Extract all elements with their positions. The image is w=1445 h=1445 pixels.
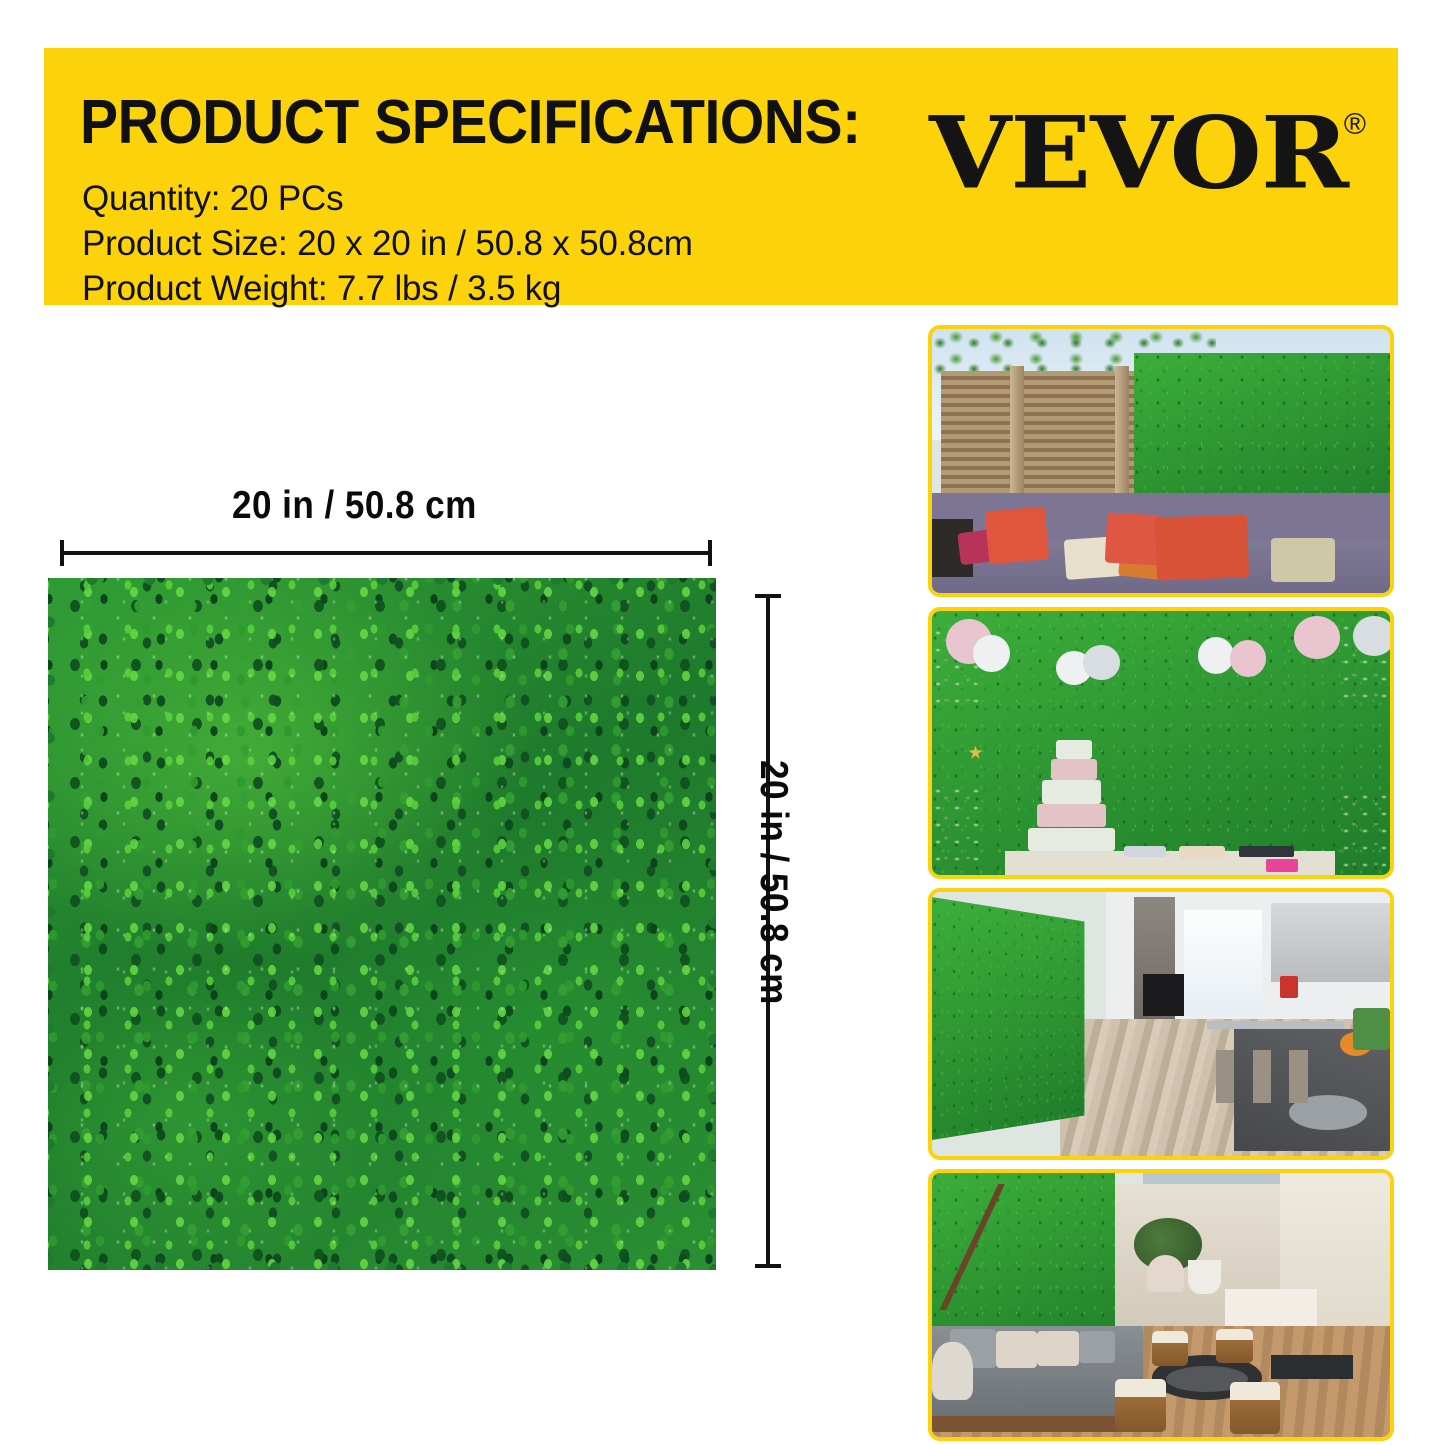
dining-chair-1 [1216,1050,1234,1103]
balloon-grey-2 [1353,616,1394,656]
stump-stool-1 [1115,1379,1165,1432]
stump-stool-seat [1216,1329,1253,1341]
kitchen-upper-cabinets [1271,903,1390,982]
stump-stool-seat [1230,1382,1280,1400]
cushion-cream-2 [1037,1331,1078,1365]
panel-edge-bottom [48,1254,716,1270]
fern-accent-bottom-left [932,785,982,864]
page-title: PRODUCT SPECIFICATIONS: [80,92,861,154]
stump-stool-3 [1152,1331,1189,1365]
cake-tier-1 [1028,828,1115,852]
gallery-photo-party-backdrop[interactable] [928,607,1394,879]
balloon-white-1 [973,635,1010,672]
spec-quantity: Quantity: 20 PCs [82,176,693,221]
dimension-end-cap-right [708,540,712,566]
cake-tier-5 [1056,740,1093,758]
spec-product-weight: Product Weight: 7.7 lbs / 3.5 kg [82,266,693,311]
stump-stool-2 [1230,1382,1280,1435]
dimension-end-cap-bottom [755,1264,781,1268]
cake-tier-4 [1051,759,1097,780]
gallery-photo-outdoor-patio[interactable] [928,325,1394,597]
cushion-grey-2 [1079,1331,1116,1363]
gallery-photo-courtyard-firepit[interactable] [928,1169,1394,1441]
panel-edge-top [48,578,716,594]
white-planter [1188,1260,1220,1294]
red-accent-item [1280,976,1298,997]
scene-interior-kitchen [932,892,1390,1156]
pillow-red-3 [1155,515,1249,582]
television [1143,974,1184,1016]
cushion-cream-1 [996,1331,1037,1368]
reflecting-pool [1271,1355,1353,1379]
window-daylight [1184,910,1262,1016]
potted-herbs [1353,1008,1390,1050]
scene-courtyard [932,1173,1390,1437]
balloon-pink-3 [1294,616,1340,658]
balloon-pink-2 [1230,640,1267,677]
pillow-red-2 [1105,512,1163,565]
serving-tray [1239,846,1294,857]
scene-outdoor-patio [932,329,1390,593]
hanging-chair [1147,1255,1184,1292]
lounge-daybed [1225,1289,1317,1326]
pillow-tan [1271,538,1335,583]
pillow-red-1 [985,506,1049,564]
scene-party-backdrop [932,611,1390,875]
fern-accent-bottom-right [1340,791,1390,870]
large-urn-planter [932,1342,973,1400]
spec-banner: PRODUCT SPECIFICATIONS: Quantity: 20 PCs… [44,48,1398,305]
stump-stool-seat [1152,1331,1189,1343]
panel-edge-left [48,578,64,1270]
dimension-line-horizontal [60,551,712,555]
balloon-grey-1 [1083,645,1120,679]
leaf-layer-highlight [48,578,716,1270]
cake-tier-2 [1037,804,1106,828]
dessert-plate-2 [1179,846,1225,859]
brand-logo: VEVOR ® [929,104,1366,208]
decorative-branch [937,1184,1010,1311]
cake-tier-3 [1042,780,1102,804]
dining-table [1207,1021,1344,1029]
stump-stool-4 [1216,1329,1253,1363]
spec-product-size: Product Size: 20 x 20 in / 50.8 x 50.8cm [82,221,693,266]
stump-stool-seat [1115,1379,1165,1397]
width-dimension-bar [60,540,712,566]
gallery-photo-interior-kitchen[interactable] [928,888,1394,1160]
height-dimension-label: 20 in / 50.8 cm [751,760,795,1005]
width-dimension-label: 20 in / 50.8 cm [232,484,477,528]
hedge-accent-wall [932,897,1084,1140]
spec-list: Quantity: 20 PCs Product Size: 20 x 20 i… [82,176,693,311]
pink-cloth [1266,859,1298,872]
dining-chair-2 [1253,1050,1271,1103]
brand-wordmark: VEVOR [929,104,1348,203]
wooden-slat-fence [941,371,1133,511]
dining-chair-3 [1289,1050,1307,1103]
dessert-plate-1 [1124,846,1165,857]
product-image-hedge-panel [48,578,716,1270]
panel-edge-right [700,578,716,1270]
